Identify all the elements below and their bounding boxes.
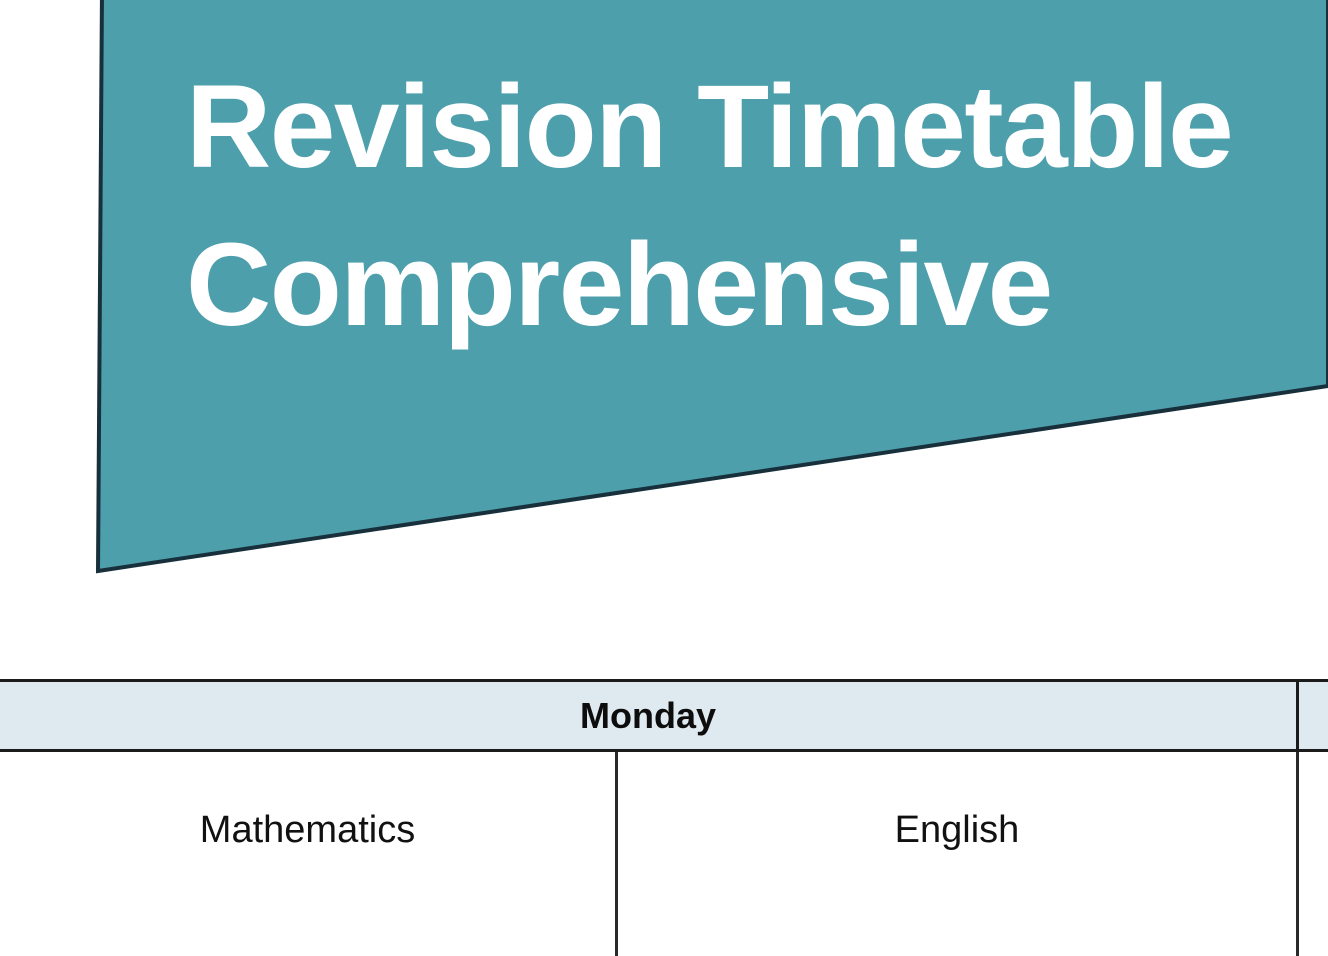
timetable-cell-mathematics: Mathematics xyxy=(0,752,615,956)
page-title: Revision Timetable Comprehensive xyxy=(186,48,1296,364)
timetable-header-monday: Monday xyxy=(0,682,1296,749)
timetable-cell-english: English xyxy=(618,752,1296,956)
timetable-body-row: Mathematics English xyxy=(0,752,1328,956)
revision-timetable: Monday Mathematics English xyxy=(0,679,1328,956)
timetable-header-next-day xyxy=(1296,682,1328,749)
timetable-cell-next xyxy=(1299,752,1328,956)
timetable-header-row: Monday xyxy=(0,679,1328,752)
title-banner: Revision Timetable Comprehensive xyxy=(0,0,1328,600)
